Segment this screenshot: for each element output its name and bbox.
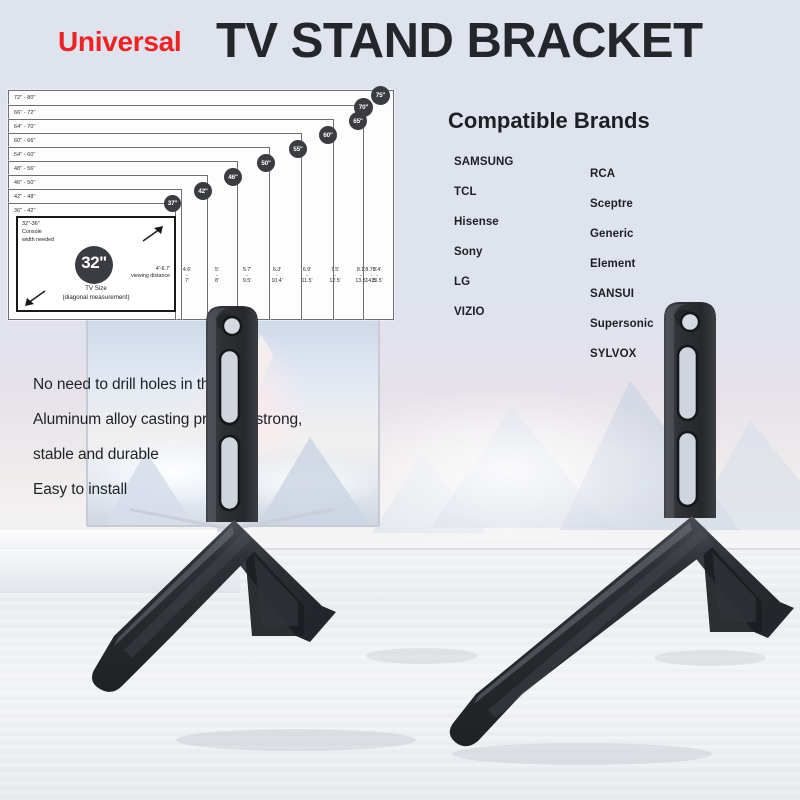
brand-item: SANSUI — [590, 288, 760, 300]
chart-row-label: 46" - 50" — [14, 180, 36, 186]
chart-row-label: 72" - 80" — [14, 95, 36, 101]
viewing-distance-max: 15.5' — [364, 279, 390, 285]
console-note-line3: width needed — [22, 237, 54, 245]
brand-item: RCA — [590, 168, 760, 180]
size-badge-32: 32" — [75, 246, 113, 284]
viewing-distance-main-value: 4'-6.7' — [114, 266, 170, 273]
chart-row-label: 64" - 70" — [14, 124, 36, 130]
arrow-down-left-icon — [24, 290, 46, 306]
viewing-distance-cell: 6.9' - 11.5' — [294, 268, 320, 285]
page-title: TV STAND BRACKET — [216, 13, 703, 69]
viewing-distance-cell: 5' - 8' — [204, 268, 230, 285]
chart-row-label: 42" - 48" — [14, 194, 36, 200]
brands-title: Compatible Brands — [448, 108, 784, 134]
console-note-line1: 32"-36" — [22, 221, 54, 229]
product-marketing-image: Universal TV STAND BRACKET 72" - 80" 66"… — [0, 0, 800, 800]
brand-item: Generic — [590, 228, 760, 240]
viewing-distance-cell: 6.3' - 10.4' — [264, 268, 290, 285]
size-badge: 60" — [319, 126, 337, 144]
viewing-distance-cell: 5.7' - 9.5' — [234, 268, 260, 285]
brand-item: SAMSUNG — [454, 156, 590, 168]
console-width-note: 32"-36" Console width needed — [22, 221, 54, 244]
viewing-distance-max: 11.5' — [294, 279, 320, 285]
size-badge: 50" — [257, 154, 275, 172]
chart-row-label: 54" - 60" — [14, 152, 36, 158]
brand-item: Element — [590, 258, 760, 270]
viewing-distance-cell: 4.6' - 7' — [174, 268, 200, 285]
brand-item: Sceptre — [590, 198, 760, 210]
size-badge: 75" — [371, 86, 390, 105]
console-note-line2: Console — [22, 229, 54, 237]
viewing-distance-main: 4'-6.7' viewing distance — [114, 266, 170, 279]
viewing-distance-cell: 9.4' - 15.5' — [364, 268, 390, 285]
eyebrow-universal: Universal — [58, 26, 181, 58]
size-badge: 37" — [164, 195, 181, 212]
header: Universal TV STAND BRACKET — [0, 0, 800, 86]
viewing-distance-max: 12.5' — [322, 279, 348, 285]
viewing-distance-main-label: viewing distance — [114, 273, 170, 280]
chart-inner-box-32: 32"-36" Console width needed 32" TV Size… — [16, 216, 176, 312]
chart-row-label: 66" - 72" — [14, 110, 36, 116]
size-badge: 46" — [224, 168, 242, 186]
brand-item: Hisense — [454, 216, 590, 228]
size-badge: 55" — [289, 140, 307, 158]
size-badge: 70" — [354, 98, 373, 117]
brand-item: LG — [454, 276, 590, 288]
chart-row-label: 60" - 66" — [14, 138, 36, 144]
viewing-distance-max: 9.5' — [234, 279, 260, 285]
chart-row-label: 36" - 42" — [14, 208, 36, 214]
arrow-up-right-icon — [142, 226, 164, 242]
brand-item: TCL — [454, 186, 590, 198]
size-badge: 42" — [194, 182, 212, 200]
viewing-distance-max: 8' — [204, 279, 230, 285]
chart-row-label: 48" - 56" — [14, 166, 36, 172]
viewing-distance-max: 10.4' — [264, 279, 290, 285]
viewing-distance-cell: 7.5' - 12.5' — [322, 268, 348, 285]
viewing-distance-max: 7' — [174, 279, 200, 285]
brand-item: Sony — [454, 246, 590, 258]
tv-size-chart: 72" - 80" 66" - 72" 64" - 70" 60" - 66" … — [8, 90, 392, 318]
tv-stand-bracket-right — [432, 302, 792, 754]
